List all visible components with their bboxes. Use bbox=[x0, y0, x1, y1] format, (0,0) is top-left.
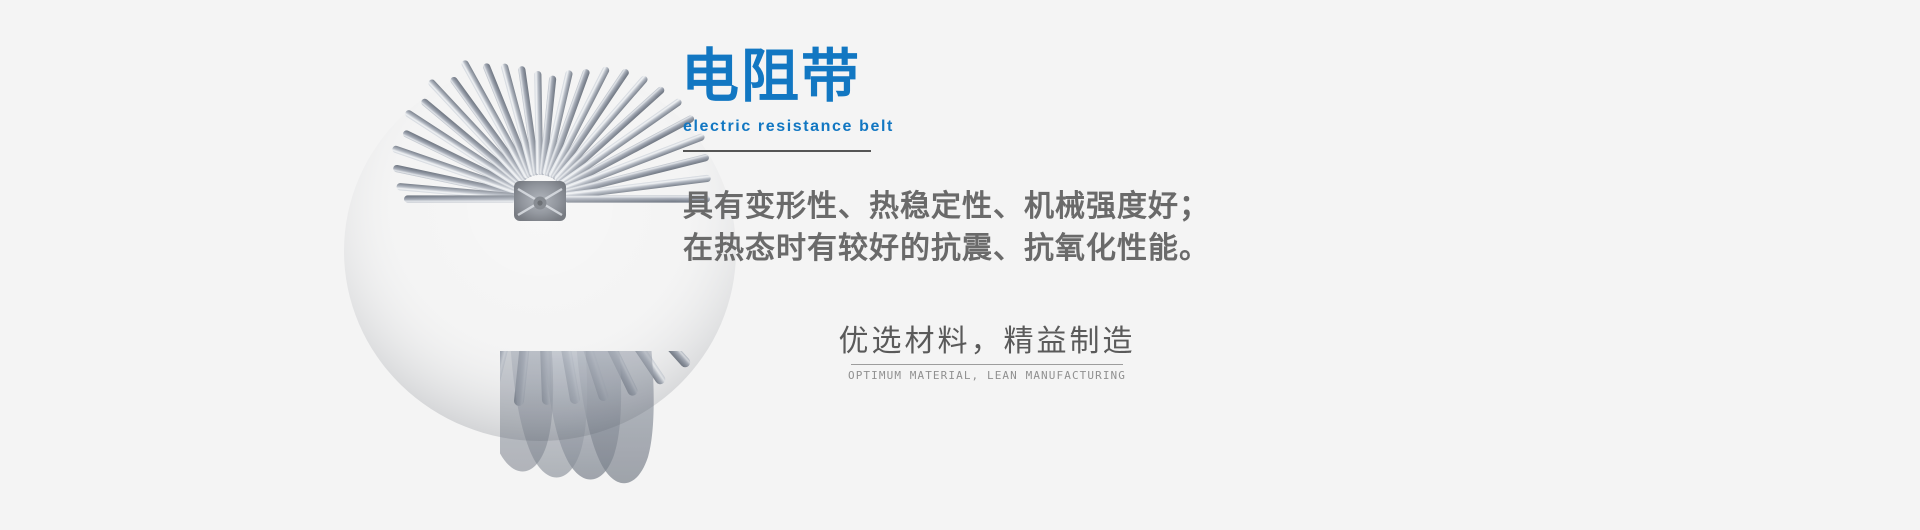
slogan-english: OPTIMUM MATERIAL, LEAN MANUFACTURING bbox=[777, 369, 1197, 383]
product-image bbox=[340, 51, 740, 451]
slogan-block: 优选材料，精益制造 OPTIMUM MATERIAL, LEAN MANUFAC… bbox=[777, 322, 1197, 383]
banner-content: 电阻带 electric resistance belt 具有变形性、热稳定性、… bbox=[681, 0, 1581, 530]
product-image-stage bbox=[340, 51, 740, 451]
title-divider bbox=[683, 150, 871, 152]
feature-list-item: 具有变形性、热稳定性、机械强度好； bbox=[683, 186, 1210, 228]
slogan-underline bbox=[851, 364, 1123, 365]
resistance-belt-product-photo bbox=[340, 51, 740, 451]
slogan-chinese: 优选材料，精益制造 bbox=[839, 322, 1136, 362]
feature-list-item: 在热态时有较好的抗震、抗氧化性能。 bbox=[683, 228, 1210, 270]
page-title: 电阻带 bbox=[681, 44, 861, 108]
page-subtitle: electric resistance belt bbox=[683, 117, 894, 137]
product-banner: 电阻带 electric resistance belt 具有变形性、热稳定性、… bbox=[0, 0, 1920, 530]
feature-list: 具有变形性、热稳定性、机械强度好； 在热态时有较好的抗震、抗氧化性能。 bbox=[683, 186, 1210, 270]
